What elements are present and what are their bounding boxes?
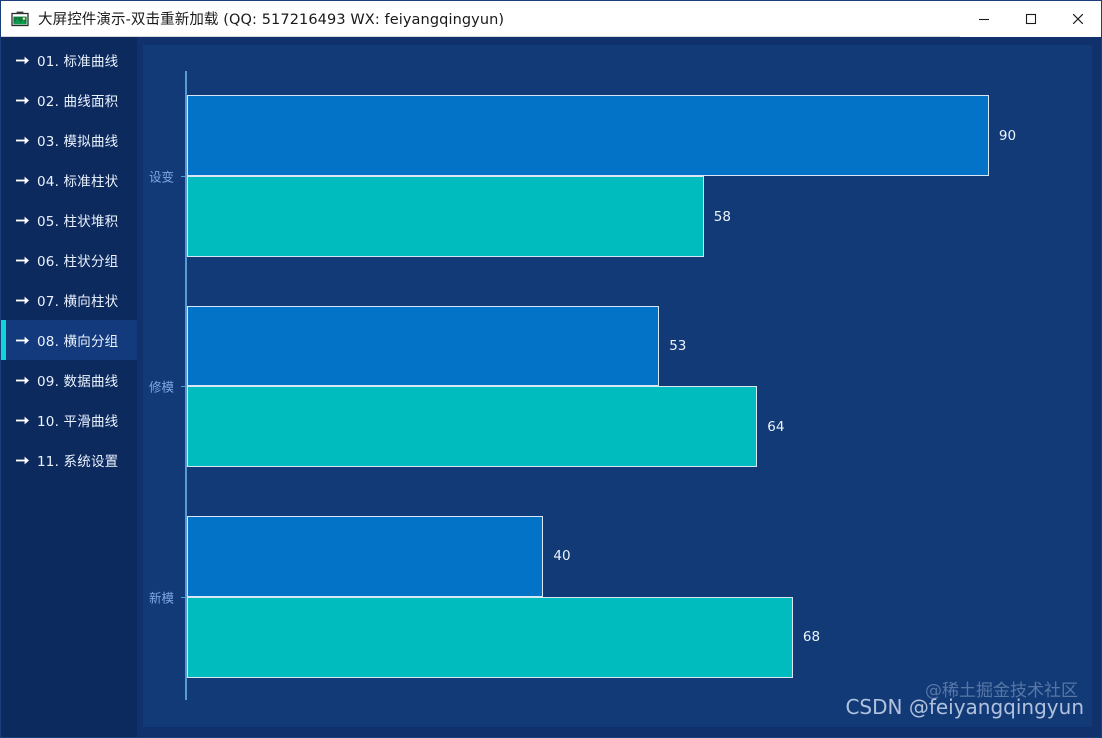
sidebar-item-label: 02. 曲线面积: [37, 90, 118, 110]
arrow-right-icon: [15, 53, 30, 68]
chart-bar[interactable]: [187, 176, 704, 257]
sidebar-item-10[interactable]: 10. 平滑曲线: [1, 400, 137, 440]
close-button[interactable]: [1054, 1, 1101, 37]
maximize-icon: [1025, 13, 1037, 25]
sidebar-item-9[interactable]: 09. 数据曲线: [1, 360, 137, 400]
arrow-right-icon: [15, 373, 30, 388]
sidebar-item-label: 11. 系统设置: [37, 450, 118, 470]
sidebar-item-1[interactable]: 01. 标准曲线: [1, 40, 137, 80]
sidebar-item-label: 06. 柱状分组: [37, 250, 118, 270]
arrow-right-icon: [15, 333, 30, 348]
chart-bar-value-label: 53: [669, 338, 686, 354]
chart-bar-row: 53: [187, 306, 1092, 387]
sidebar-item-7[interactable]: 07. 横向柱状: [1, 280, 137, 320]
chart-bar-value-label: 64: [767, 419, 784, 435]
chart-bar-value-label: 58: [714, 209, 731, 225]
chart-bar[interactable]: [187, 386, 757, 467]
arrow-right-icon: [15, 173, 30, 188]
chart-bar-row: 40: [187, 516, 1092, 597]
sidebar-item-label: 10. 平滑曲线: [37, 410, 118, 430]
chart-bar[interactable]: [187, 306, 659, 387]
arrow-right-icon: [15, 213, 30, 228]
close-icon: [1072, 13, 1084, 25]
sidebar-item-label: 05. 柱状堆积: [37, 210, 118, 230]
sidebar-item-label: 01. 标准曲线: [37, 50, 118, 70]
chart-category-group: 修模5364: [143, 281, 1092, 491]
sidebar-item-label: 07. 横向柱状: [37, 290, 118, 310]
sidebar-item-6[interactable]: 06. 柱状分组: [1, 240, 137, 280]
arrow-right-icon: [15, 453, 30, 468]
chart-bar-value-label: 40: [553, 548, 570, 564]
arrow-right-icon: [15, 253, 30, 268]
arrow-right-icon: [15, 293, 30, 308]
chart-bar[interactable]: [187, 516, 543, 597]
sidebar-item-4[interactable]: 04. 标准柱状: [1, 160, 137, 200]
sidebar-item-5[interactable]: 05. 柱状堆积: [1, 200, 137, 240]
sidebar-item-11[interactable]: 11. 系统设置: [1, 440, 137, 480]
sidebar-item-8[interactable]: 08. 横向分组: [1, 320, 137, 360]
sidebar-navigation: 01. 标准曲线02. 曲线面积03. 模拟曲线04. 标准柱状05. 柱状堆积…: [1, 37, 137, 737]
chart-category-label: 新模: [149, 587, 174, 606]
chart-panel: 设变9058修模5364新模4068 @稀土掘金技术社区 CSDN @feiya…: [143, 45, 1092, 727]
chart-category-label: 修模: [149, 377, 174, 396]
window-controls: [960, 1, 1101, 37]
window-body: 01. 标准曲线02. 曲线面积03. 模拟曲线04. 标准柱状05. 柱状堆积…: [1, 37, 1101, 737]
application-window: 大屏控件演示-双击重新加载 (QQ: 517216493 WX: feiyang…: [0, 0, 1102, 738]
arrow-right-icon: [15, 133, 30, 148]
title-bar: 大屏控件演示-双击重新加载 (QQ: 517216493 WX: feiyang…: [1, 1, 1101, 37]
sidebar-item-2[interactable]: 02. 曲线面积: [1, 80, 137, 120]
window-title: 大屏控件演示-双击重新加载 (QQ: 517216493 WX: feiyang…: [38, 8, 504, 29]
maximize-button[interactable]: [1007, 1, 1054, 37]
y-axis-tick: [181, 176, 186, 177]
y-axis-tick: [181, 386, 186, 387]
arrow-right-icon: [15, 413, 30, 428]
chart-bar-row: 90: [187, 95, 1092, 176]
chart-bar[interactable]: [187, 597, 793, 678]
plot-area: 设变9058修模5364新模4068: [143, 45, 1092, 727]
sidebar-item-label: 08. 横向分组: [37, 330, 118, 350]
minimize-icon: [978, 13, 990, 25]
app-image-icon: [11, 10, 29, 28]
minimize-button[interactable]: [960, 1, 1007, 37]
chart-category-group: 设变9058: [143, 71, 1092, 281]
arrow-right-icon: [15, 93, 30, 108]
chart-category-group: 新模4068: [143, 492, 1092, 702]
sidebar-item-label: 09. 数据曲线: [37, 370, 118, 390]
chart-bar-row: 64: [187, 386, 1092, 467]
sidebar-item-label: 04. 标准柱状: [37, 170, 118, 190]
content-area: 设变9058修模5364新模4068 @稀土掘金技术社区 CSDN @feiya…: [137, 37, 1101, 737]
chart-bar-value-label: 68: [803, 629, 820, 645]
chart-category-label: 设变: [149, 167, 174, 186]
chart-bar-row: 58: [187, 176, 1092, 257]
sidebar-item-3[interactable]: 03. 模拟曲线: [1, 120, 137, 160]
chart-bar-row: 68: [187, 597, 1092, 678]
title-bar-left: 大屏控件演示-双击重新加载 (QQ: 517216493 WX: feiyang…: [1, 8, 960, 29]
chart-bar[interactable]: [187, 95, 989, 176]
sidebar-selection-indicator: [1, 320, 6, 360]
y-axis-tick: [181, 597, 186, 598]
sidebar-item-label: 03. 模拟曲线: [37, 130, 118, 150]
chart-bar-value-label: 90: [999, 128, 1016, 144]
